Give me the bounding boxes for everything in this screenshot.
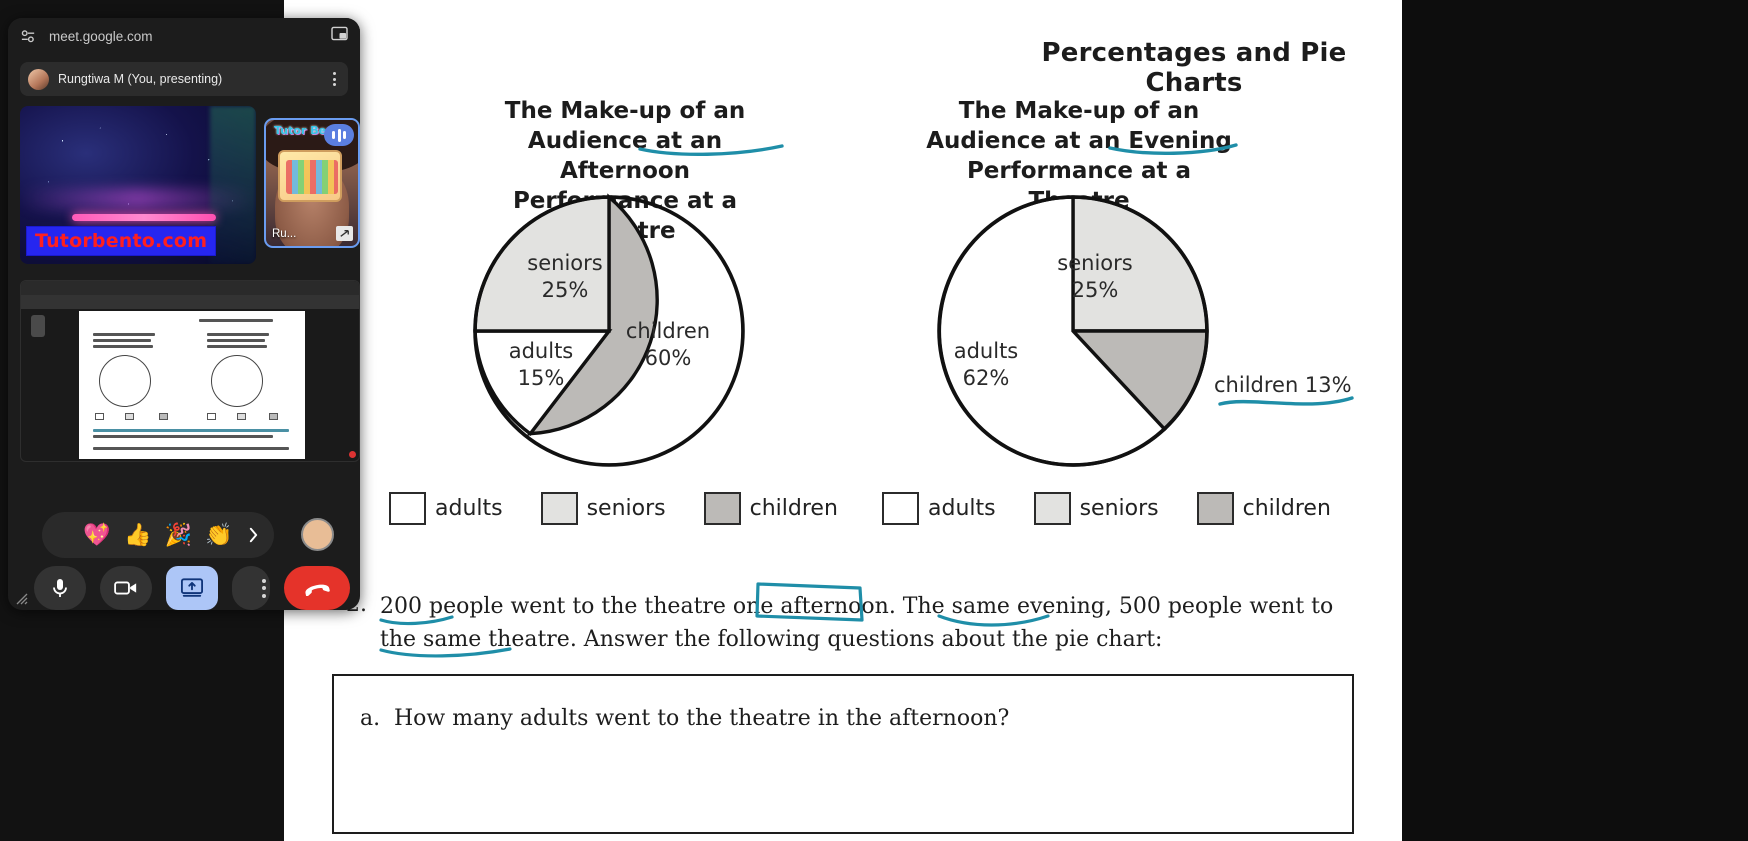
chart-title-line1: The Make-up of an bbox=[460, 96, 790, 126]
pie-right-seniors-value: 25% bbox=[1040, 277, 1150, 304]
legend-item-seniors: seniors bbox=[541, 492, 666, 525]
neon-light-decoration bbox=[72, 214, 216, 221]
green-decoration bbox=[210, 106, 256, 264]
presenter-bar[interactable]: Rungtiwa M (You, presenting) bbox=[20, 62, 348, 96]
legend-evening: adults seniors children bbox=[882, 492, 1357, 525]
pie-right-children-label: children 13% bbox=[1214, 372, 1402, 399]
sticker-overlay bbox=[278, 150, 342, 202]
microphone-button[interactable] bbox=[34, 566, 86, 610]
sub-question-text: How many adults went to the theatre in t… bbox=[394, 706, 1009, 731]
reactions-bar[interactable]: chevron-left-icon 💖 👍 🎉 👏 bbox=[42, 512, 274, 558]
picture-in-picture-icon[interactable] bbox=[331, 26, 348, 46]
url-text: meet.google.com bbox=[49, 29, 153, 44]
sub-question-letter: a. bbox=[360, 706, 394, 731]
legend-item-children: children bbox=[704, 492, 838, 525]
legend-item-adults: adults bbox=[389, 492, 503, 525]
sparkling-heart-emoji[interactable]: 💖 bbox=[83, 524, 110, 546]
pie-right-seniors-label: seniors bbox=[1040, 250, 1150, 277]
legend-swatch-adults bbox=[882, 492, 919, 525]
end-call-button[interactable] bbox=[284, 566, 350, 610]
page-title: Percentages and Pie Charts bbox=[1024, 38, 1364, 98]
pie-left-seniors-label: seniors bbox=[510, 250, 620, 277]
more-options-button[interactable] bbox=[232, 566, 270, 610]
screen: Percentages and Pie Charts The Make-up o… bbox=[0, 0, 1748, 841]
legend-label-children: children bbox=[750, 496, 838, 521]
chart-title-line2: Audience at an Afternoon bbox=[460, 126, 790, 186]
preview-sidebar-tab bbox=[31, 315, 45, 337]
legend-label-seniors: seniors bbox=[587, 496, 666, 521]
self-tile-name: Ru... bbox=[272, 228, 296, 240]
clap-emoji[interactable]: 👏 bbox=[205, 524, 232, 546]
avatar bbox=[28, 69, 49, 90]
preview-record-dot bbox=[349, 451, 356, 458]
preview-toolbar bbox=[21, 295, 360, 309]
pie-chart-evening: seniors 25% adults 62% bbox=[932, 190, 1214, 472]
presenter-name: Rungtiwa M (You, presenting) bbox=[58, 72, 222, 86]
watermark-text: Tutorbento.com bbox=[35, 230, 207, 252]
legend-label-children: children bbox=[1243, 496, 1331, 521]
video-tile-main[interactable]: Tutorbento.com bbox=[20, 106, 256, 264]
legend-swatch-seniors bbox=[1034, 492, 1071, 525]
chart-title-line2: Audience at an Evening bbox=[914, 126, 1244, 156]
camera-button[interactable] bbox=[100, 566, 152, 610]
meeting-controls bbox=[34, 566, 350, 610]
present-screen-button[interactable] bbox=[166, 566, 218, 610]
preview-page bbox=[79, 311, 305, 459]
self-view-toggle[interactable] bbox=[301, 518, 334, 551]
resize-grip[interactable] bbox=[16, 592, 28, 604]
screen-share-preview[interactable] bbox=[20, 280, 360, 462]
pie-right-adults-value: 62% bbox=[926, 365, 1046, 392]
question-text: 200 people went to the theatre one after… bbox=[380, 590, 1340, 656]
legend-item-children: children bbox=[1197, 492, 1331, 525]
legend-swatch-seniors bbox=[541, 492, 578, 525]
chevron-right-icon[interactable] bbox=[246, 527, 262, 543]
legend-item-seniors: seniors bbox=[1034, 492, 1159, 525]
pie-left-adults-value: 15% bbox=[486, 365, 596, 392]
legend-item-adults: adults bbox=[882, 492, 996, 525]
legend-afternoon: adults seniors children bbox=[389, 492, 864, 525]
pie-left-adults-label: adults bbox=[486, 338, 596, 365]
video-tile-self[interactable]: Tutor Bento Ru... bbox=[264, 118, 360, 248]
party-popper-emoji[interactable]: 🎉 bbox=[165, 524, 192, 546]
pie-left-seniors-value: 25% bbox=[510, 277, 620, 304]
sub-question: a.How many adults went to the theatre in… bbox=[360, 706, 1320, 731]
chart-title-line1: The Make-up of an bbox=[914, 96, 1244, 126]
legend-label-seniors: seniors bbox=[1080, 496, 1159, 521]
url-bar[interactable]: meet.google.com bbox=[8, 18, 360, 54]
pie-left-children-value: 60% bbox=[608, 345, 728, 372]
audio-waveform-icon bbox=[324, 124, 354, 146]
legend-swatch-adults bbox=[389, 492, 426, 525]
google-meet-panel: meet.google.com Rungtiwa M (You, present… bbox=[8, 18, 360, 610]
legend-swatch-children bbox=[704, 492, 741, 525]
legend-label-adults: adults bbox=[928, 496, 996, 521]
pie-right-adults-label: adults bbox=[926, 338, 1046, 365]
page-info-icon[interactable] bbox=[20, 28, 37, 45]
shared-screen-document: Percentages and Pie Charts The Make-up o… bbox=[284, 0, 1402, 841]
right-background bbox=[1402, 0, 1748, 841]
legend-label-adults: adults bbox=[435, 496, 503, 521]
kebab-menu-icon[interactable] bbox=[329, 72, 340, 86]
watermark: Tutorbento.com bbox=[26, 226, 216, 256]
answer-box: a.How many adults went to the theatre in… bbox=[332, 674, 1354, 834]
legend-swatch-children bbox=[1197, 492, 1234, 525]
pie-chart-afternoon: seniors 25% adults 15% children 60% bbox=[468, 190, 750, 472]
preview-titlebar bbox=[21, 281, 360, 295]
pin-icon[interactable] bbox=[336, 226, 353, 241]
pie-left-children-label: children bbox=[608, 318, 728, 345]
thumbs-up-emoji[interactable]: 👍 bbox=[124, 524, 151, 546]
